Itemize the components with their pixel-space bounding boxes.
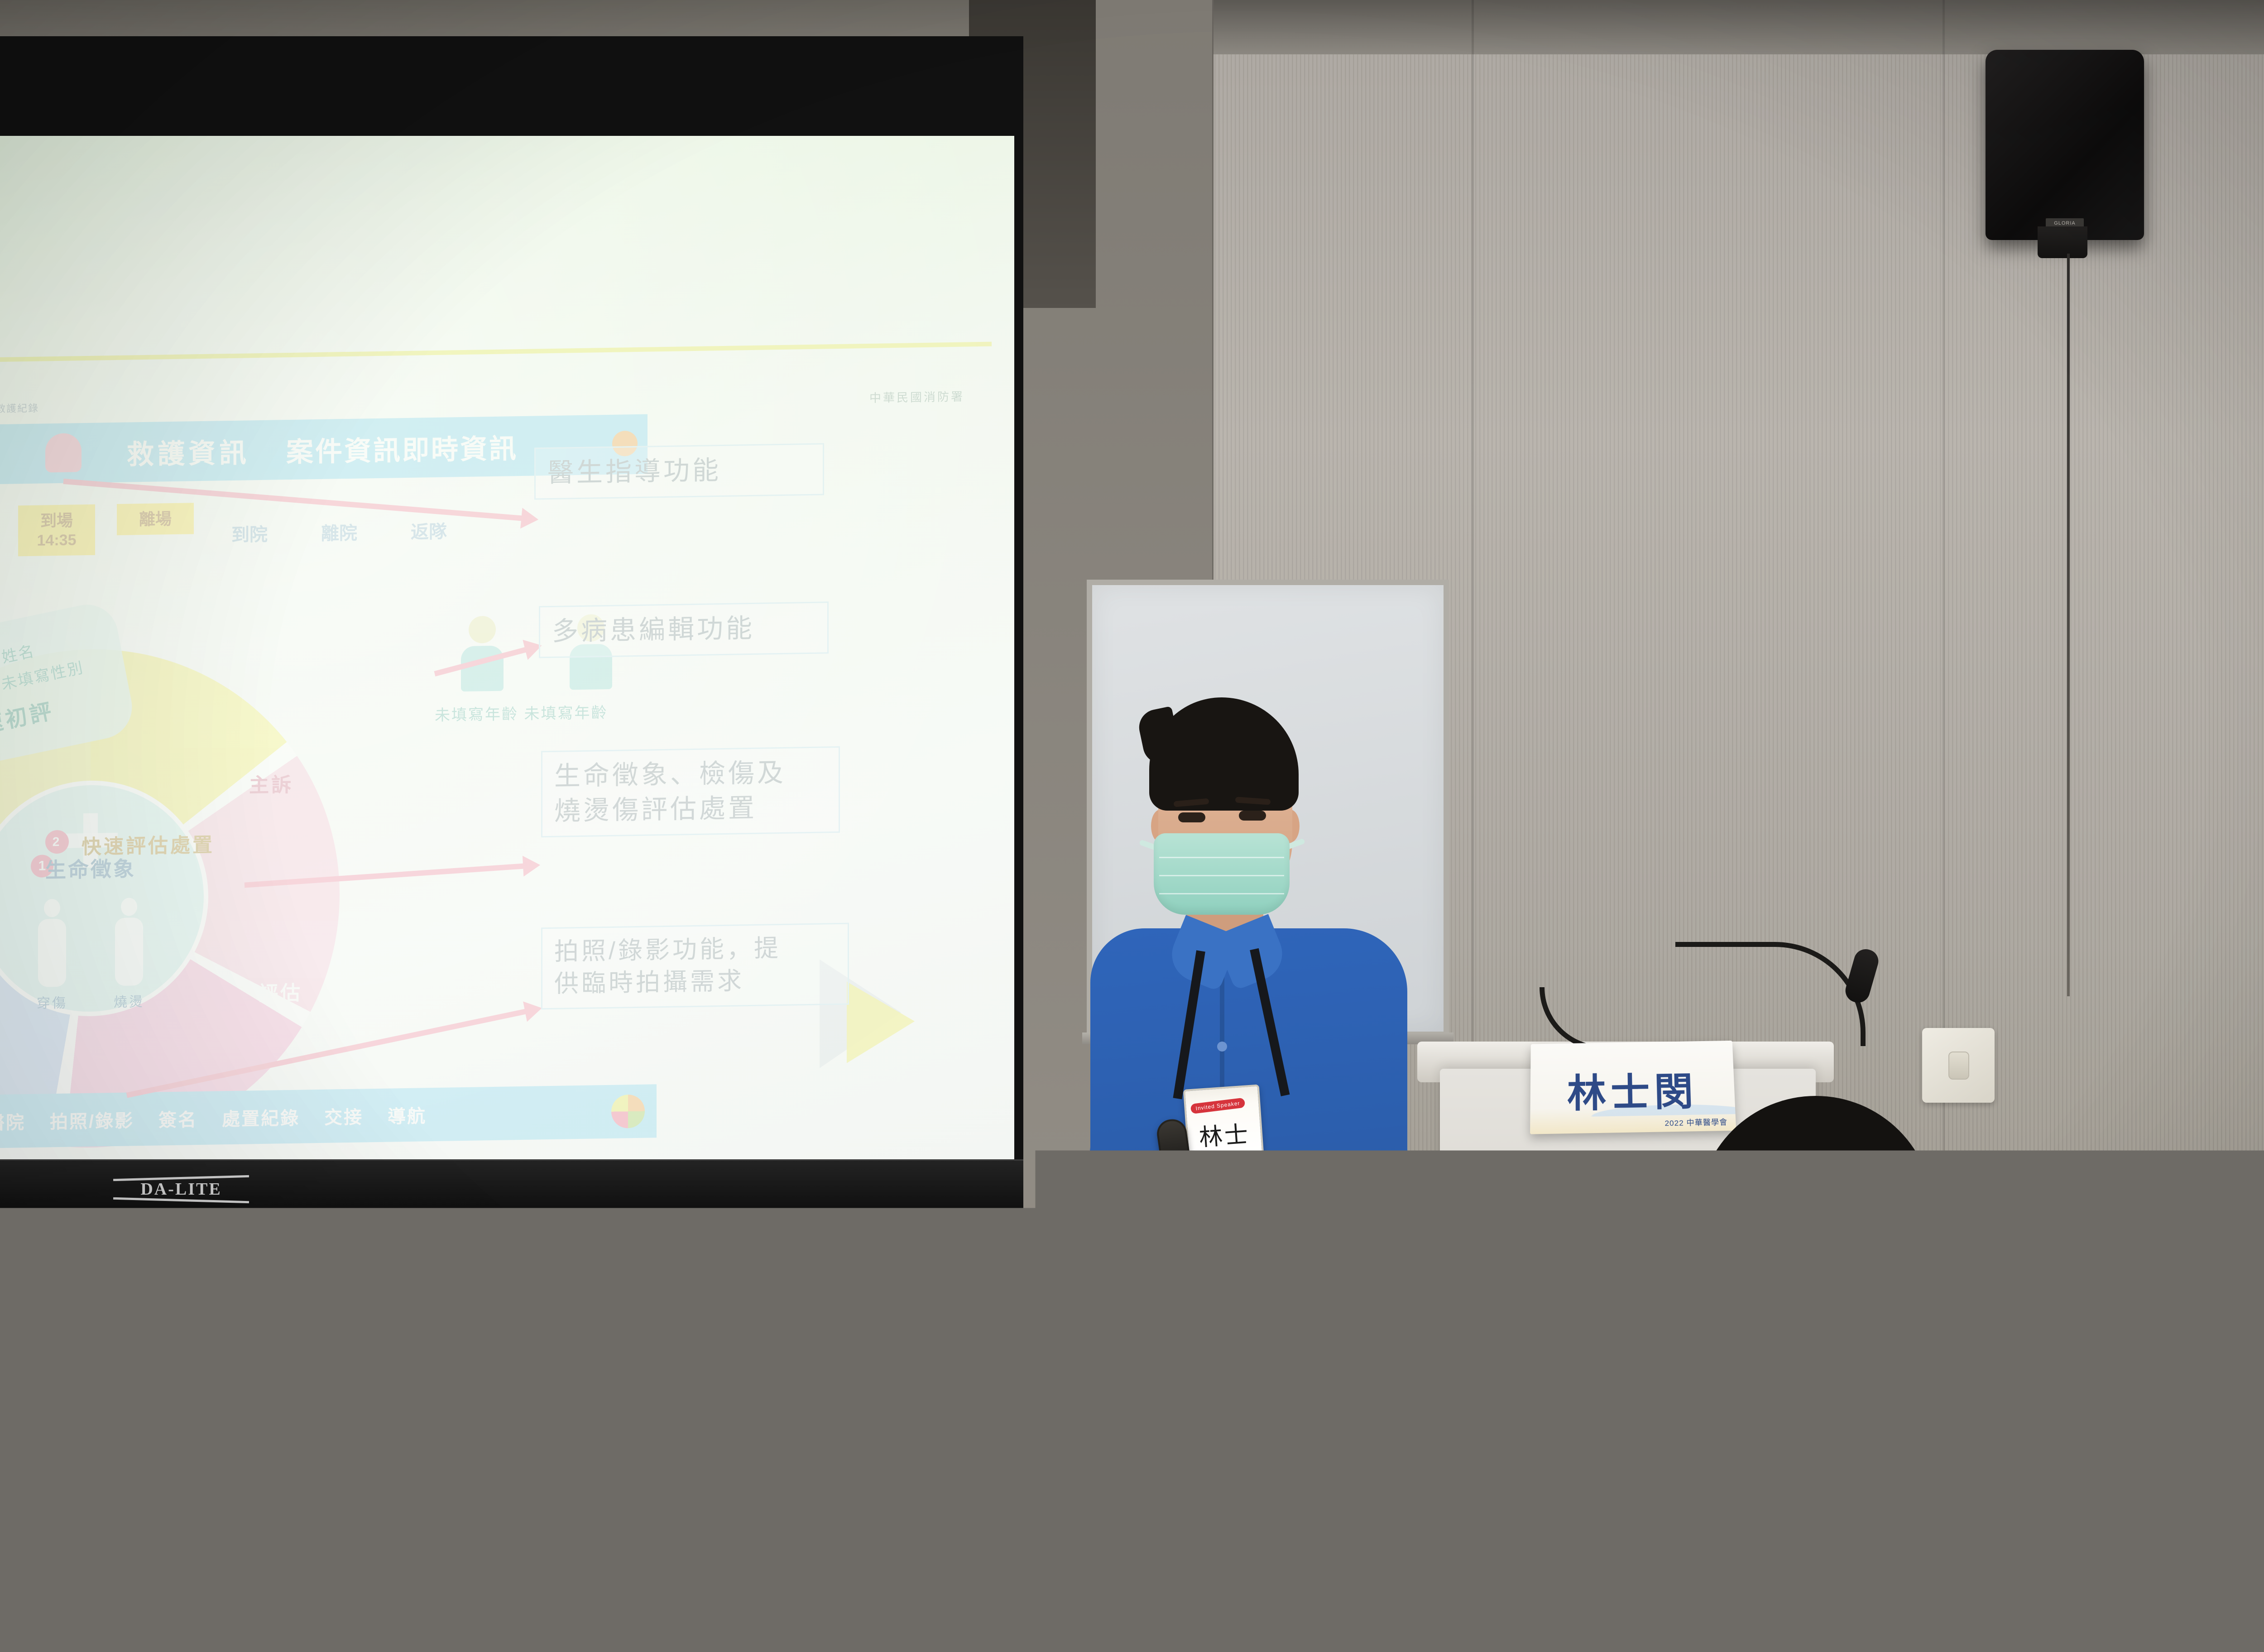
app-nav-primary[interactable]: 救護資訊 xyxy=(127,431,250,472)
presenter-eye xyxy=(1178,812,1205,822)
schedule-number: 3 xyxy=(1516,1467,1539,1488)
cabinet-handle[interactable] xyxy=(764,1291,772,1377)
pa-speaker: GLORIA xyxy=(1986,50,2144,240)
app-bottom-nav: 醫院 拍照/錄影 簽名 處置紀錄 交接 導航 xyxy=(0,1084,657,1148)
chair-slot xyxy=(661,1551,960,1559)
bottom-nav-item-navigation[interactable]: 導航 xyxy=(388,1101,427,1128)
chair-slot xyxy=(661,1575,960,1582)
poster-artwork-blob xyxy=(1508,1214,1615,1321)
chair-backrest xyxy=(634,1503,978,1621)
timeline-chip[interactable]: 到院 xyxy=(216,501,283,547)
cabinet-handle[interactable] xyxy=(591,1291,599,1377)
light-switch[interactable] xyxy=(1922,1028,1995,1103)
presenter-name-badge: Invited Speaker 林士閔 2022 中華醫學會 xyxy=(1183,1084,1266,1185)
cabinet-handle[interactable] xyxy=(73,1291,80,1377)
bottom-nav-item-handover[interactable]: 交接 xyxy=(324,1102,363,1129)
bottom-nav-item-photo[interactable]: 拍照/錄影 xyxy=(50,1106,134,1133)
patient-avatar-icon xyxy=(45,433,82,472)
badge-tagline: Invited Speaker xyxy=(1190,1098,1246,1114)
schedule-number: 2 xyxy=(1516,1431,1538,1452)
segment-label-chief-complaint[interactable]: 主訴 xyxy=(249,768,293,798)
segment-label-evaluation[interactable]: 評估 xyxy=(258,977,302,1007)
presenter-hair xyxy=(1149,697,1299,811)
body-figure-caption: 燒燙 xyxy=(100,990,158,1011)
cabinet-door[interactable] xyxy=(0,1259,164,1549)
shirt-button xyxy=(1217,1273,1227,1282)
schedule-number: 5 xyxy=(1518,1546,1540,1567)
chair-asset-tag xyxy=(824,1586,849,1607)
audience-member-left xyxy=(190,1436,525,1652)
pa-speaker-cable xyxy=(2067,254,2070,996)
callout-vitals-triage-burn: 生命徵象、檢傷及 燒燙傷評估處置 xyxy=(541,746,840,837)
timeline-chip-active[interactable]: 離場 xyxy=(117,503,194,535)
microphone-grille xyxy=(1157,1119,1190,1172)
shirt-button xyxy=(1217,1042,1227,1052)
side-cabinet[interactable] xyxy=(2210,1191,2264,1652)
chair-venue-label: 會議中心 xyxy=(702,1585,800,1614)
poster-date: 2022.7.16 xyxy=(1516,1329,1588,1348)
schedule-time: 08:20-08:25 xyxy=(1515,1379,1563,1390)
schedule-number: 4 xyxy=(1517,1518,1540,1539)
cabinet-accent-band xyxy=(2211,1191,2264,1218)
belt-buckle xyxy=(1227,1367,1269,1396)
callout-photo-video: 拍照/錄影功能，提 供臨時拍攝需求 xyxy=(541,923,849,1009)
presenter-right-hand xyxy=(1273,1181,1376,1301)
color-wheel-icon[interactable] xyxy=(611,1095,645,1129)
timeline-label: 離場 xyxy=(139,509,172,528)
assessment-radial-diagram: 1 生命徵象 穿傷 燒燙 2 快速評估處置 主訴 xyxy=(0,645,340,1151)
slide-top-accent xyxy=(0,342,992,362)
presenter: Invited Speaker 林士閔 2022 中華醫學會 xyxy=(1037,697,1444,1652)
light-switch-rocker[interactable] xyxy=(1948,1052,1969,1080)
patient-caption: 未填寫年齡 未填寫年齡 xyxy=(435,700,608,725)
cabinet-panel-line xyxy=(2230,1340,2264,1342)
audience-hair xyxy=(190,1436,507,1652)
cabinet-handle[interactable] xyxy=(246,1291,253,1377)
floor-right xyxy=(2210,1594,2264,1652)
cabinet-handle[interactable] xyxy=(937,1291,945,1377)
conference-chair[interactable]: 會議中心 xyxy=(634,1503,978,1652)
callout-doctor-guidance: 醫生指導功能 xyxy=(534,443,824,499)
schedule-time: 12:20-12:50 xyxy=(1517,1499,1566,1510)
presenter-jeans xyxy=(1095,1395,1407,1652)
audience-hair xyxy=(1698,1096,1933,1331)
slide-corner-tag: 救護紀錄 xyxy=(0,400,39,416)
slide-breadcrumb: 中華民國消防署 xyxy=(869,388,964,406)
timeline-chip[interactable]: 返隊 xyxy=(395,499,463,544)
body-figure-row: 穿傷 燒燙 xyxy=(0,897,204,991)
bottom-nav-item-signature[interactable]: 簽名 xyxy=(158,1105,197,1132)
projector-screen-brand-logo: DA-LITE xyxy=(113,1175,249,1203)
pa-speaker-bracket xyxy=(2038,226,2087,258)
bottom-nav-item-records[interactable]: 處置紀錄 xyxy=(222,1104,300,1131)
bottom-nav-item-hospital[interactable]: 醫院 xyxy=(0,1108,25,1134)
poster-day-chip: 六 xyxy=(1591,1330,1607,1346)
timeline-time: 14:35 xyxy=(30,530,83,550)
schedule-number: 1 xyxy=(1515,1399,1537,1420)
body-figure-caption: 穿傷 xyxy=(23,991,82,1012)
chair-slot xyxy=(661,1528,960,1535)
surgical-mask xyxy=(1154,833,1290,915)
body-figure[interactable]: 穿傷 xyxy=(32,899,72,990)
segment-label-rapid-assessment[interactable]: 快速評估處置 xyxy=(82,829,215,860)
presenter-eye xyxy=(1239,811,1266,821)
decorative-triangle-yellow xyxy=(847,980,915,1063)
app-nav-secondary[interactable]: 案件資訊即時資訊 xyxy=(286,427,518,470)
counter-top xyxy=(0,1223,1028,1259)
timeline-chip-active[interactable]: 到場 14:35 xyxy=(18,504,95,556)
projected-slide: 救護紀錄 中華民國消防署 救護資訊 案件資訊即時資訊 到場 14:35 離場 到… xyxy=(0,346,992,1177)
body-figure[interactable]: 燒燙 xyxy=(109,898,149,989)
schedule-title: 開幕致詞 xyxy=(1569,1377,1609,1391)
callout-multi-patient-edit: 多病患編輯功能 xyxy=(539,601,829,658)
shirt-button xyxy=(1217,1196,1227,1205)
audience-member-foreground xyxy=(1621,1096,2110,1652)
conference-room-photo: GLORIA 救護紀錄 中華民國消防署 救護資訊 案件資訊即時資訊 到 xyxy=(0,0,2264,1652)
schedule-number: 6 xyxy=(1519,1575,1541,1595)
projection-screen: 救護紀錄 中華民國消防署 救護資訊 案件資訊即時資訊 到場 14:35 離場 到… xyxy=(0,136,1014,1177)
timeline-label: 到場 xyxy=(40,511,73,530)
cabinet-handle[interactable] xyxy=(419,1291,426,1377)
jeans-pocket xyxy=(1308,1422,1380,1476)
